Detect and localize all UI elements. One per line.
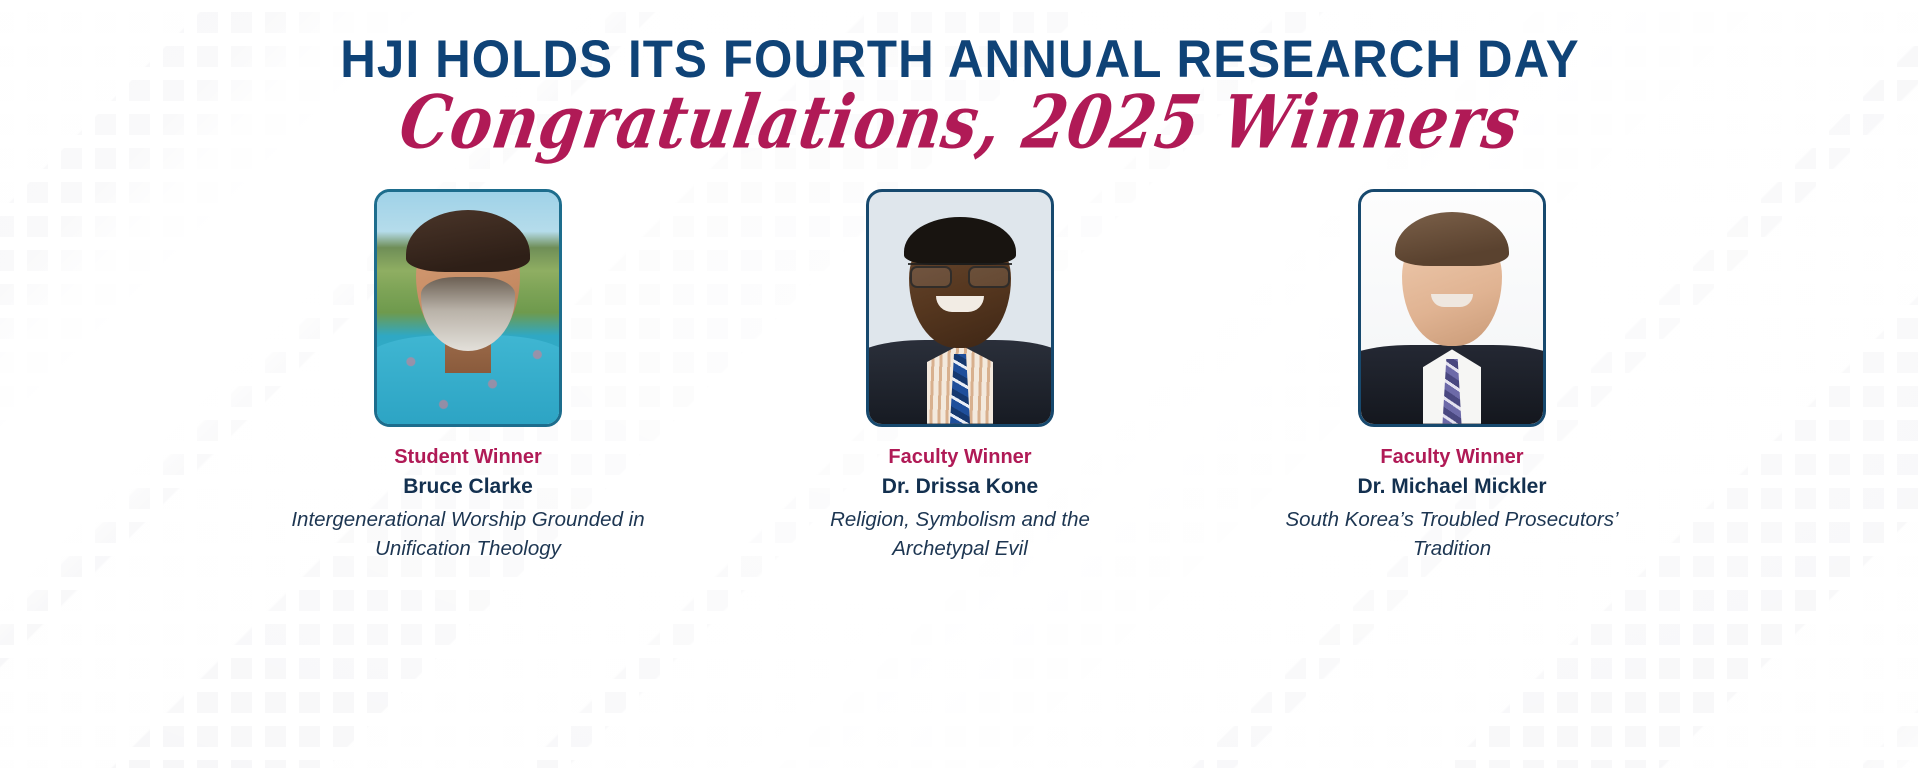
- banner-content: HJI HOLDS ITS FOURTH ANNUAL RESEARCH DAY…: [0, 32, 1920, 768]
- winner-photo-frame: [374, 189, 562, 427]
- winner-name: Bruce Clarke: [403, 472, 533, 502]
- winner-photo-frame: [1358, 189, 1546, 427]
- winner-card: Student Winner Bruce Clarke Intergenerat…: [268, 189, 668, 564]
- winner-role: Faculty Winner: [1380, 443, 1523, 472]
- research-day-banner: HJI HOLDS ITS FOURTH ANNUAL RESEARCH DAY…: [0, 0, 1920, 768]
- portrait-image: [377, 192, 559, 424]
- winner-name: Dr. Drissa Kone: [882, 472, 1038, 502]
- winner-card: Faculty Winner Dr. Michael Mickler South…: [1252, 189, 1652, 564]
- winner-project-title: Religion, Symbolism and the Archetypal E…: [780, 505, 1140, 563]
- portrait-image: [1361, 192, 1543, 424]
- winner-name: Dr. Michael Mickler: [1357, 472, 1546, 502]
- winner-project-title: Intergenerational Worship Grounded in Un…: [288, 505, 648, 563]
- banner-script-subtitle: Congratulations, 2025 Winners: [0, 79, 1920, 167]
- winner-card: Faculty Winner Dr. Drissa Kone Religion,…: [760, 189, 1160, 564]
- portrait-image: [869, 192, 1051, 424]
- winner-role: Student Winner: [394, 443, 542, 472]
- winners-row: Student Winner Bruce Clarke Intergenerat…: [0, 189, 1920, 564]
- winner-role: Faculty Winner: [888, 443, 1031, 472]
- winner-photo-frame: [866, 189, 1054, 427]
- winner-project-title: South Korea’s Troubled Prosecutors’ Trad…: [1272, 505, 1632, 563]
